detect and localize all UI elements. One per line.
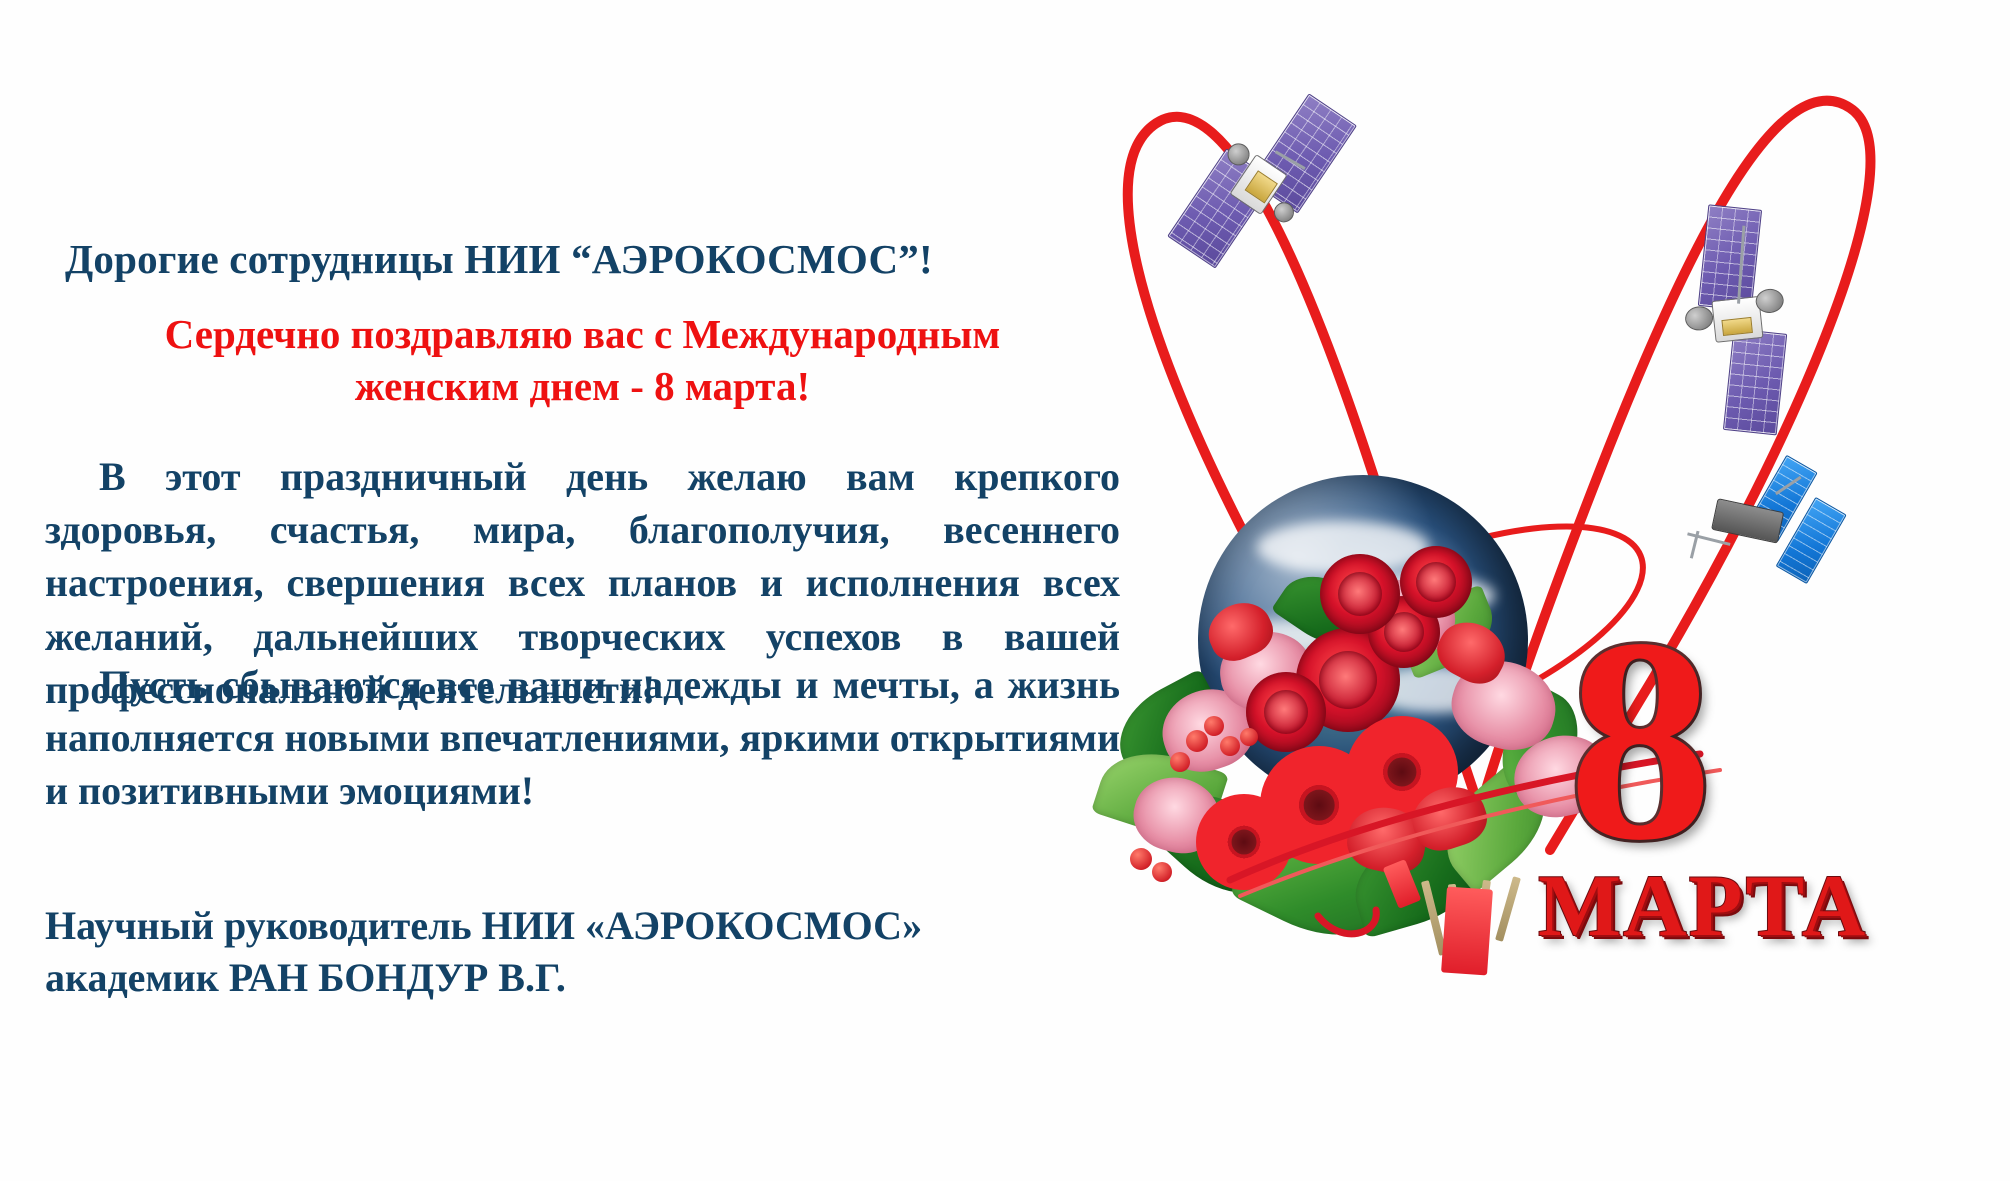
solar-panel-icon	[1698, 204, 1762, 311]
greeting-card: Дорогие сотрудницы НИИ “АЭРОКОСМОС”! Сер…	[0, 0, 2010, 1181]
rose-flower	[1400, 546, 1472, 618]
emblem-month: МАРТА	[1538, 863, 1867, 951]
solar-panel-icon	[1723, 328, 1787, 435]
swoosh-curl	[1318, 910, 1376, 934]
signature-line-2: академик РАН БОНДУР В.Г.	[45, 952, 1120, 1004]
eight-march-emblem: 8 МАРТА	[1538, 595, 1968, 975]
satellite-upper-left	[1164, 78, 1376, 273]
body-paragraph-2: Пусть сбываются все ваши надежды и мечты…	[45, 658, 1120, 818]
greeting-heading: Дорогие сотрудницы НИИ “АЭРОКОСМОС”!	[65, 235, 1125, 283]
signature-line-1: Научный руководитель НИИ «АЭРОКОСМОС»	[45, 900, 1120, 952]
emblem-number: 8	[1568, 595, 1707, 885]
satellite-instrument	[1721, 317, 1753, 336]
message-column: Дорогие сотрудницы НИИ “АЭРОКОСМОС”! Сер…	[45, 60, 1125, 1120]
congratulation-text: Сердечно поздравляю вас с Международным …	[45, 308, 1120, 413]
space-bouquet-artwork: 8 МАРТА	[1080, 0, 2010, 1181]
rose-flower	[1320, 554, 1400, 634]
antenna-dish-icon	[1684, 305, 1714, 332]
congratulation-line-1: Сердечно поздравляю вас с Международным	[45, 308, 1120, 360]
congratulation-line-2: женским днем - 8 марта!	[45, 360, 1120, 412]
satellite-upper-right	[1650, 196, 1850, 414]
signature-block: Научный руководитель НИИ «АЭРОКОСМОС» ак…	[45, 900, 1120, 1004]
